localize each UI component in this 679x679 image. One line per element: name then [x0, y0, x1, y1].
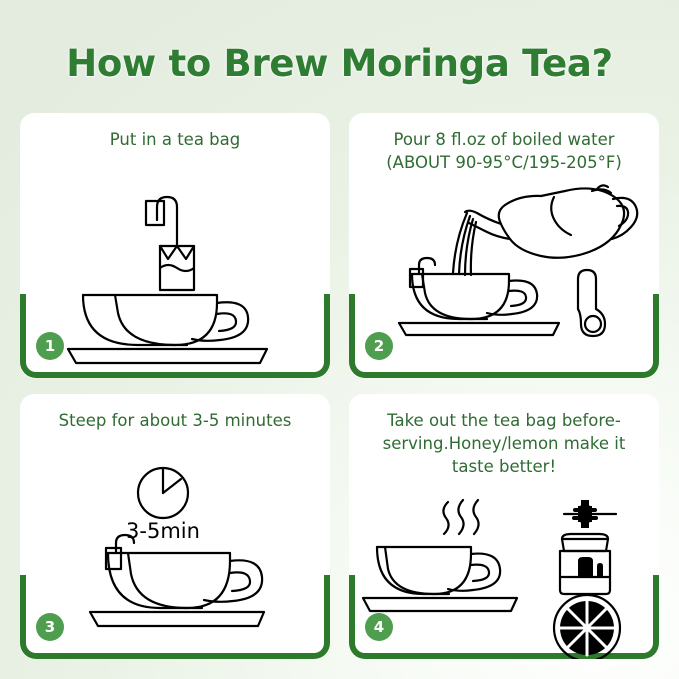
- step-badge-2: 2: [365, 332, 393, 360]
- panel-artwork-1: [20, 113, 330, 378]
- water-stream: [453, 213, 476, 275]
- lemon-slice-icon: [554, 595, 620, 659]
- tea-bag-icon: [146, 197, 194, 290]
- step-panel-2: Pour 8 fl.oz of boiled water (ABOUT 90-9…: [349, 113, 659, 378]
- steaming-teacup-icon: [363, 547, 517, 611]
- step-badge-3: 3: [36, 613, 64, 641]
- page-title: How to Brew Moringa Tea?: [0, 42, 679, 85]
- step-badge-4: 4: [365, 613, 393, 641]
- panel-artwork-2: [349, 113, 659, 378]
- step-panel-4: Take out the tea bag before- serving.Hon…: [349, 394, 659, 659]
- infographic-root: How to Brew Moringa Tea? Put in a tea ba…: [0, 0, 679, 679]
- step-panel-1: Put in a tea bag: [20, 113, 330, 378]
- steep-time-label: 3-5min: [126, 519, 200, 543]
- step-badge-1: 1: [36, 332, 64, 360]
- teapot-pouring-icon: [465, 185, 637, 257]
- tea-bag-icon: [410, 258, 435, 287]
- steam-icon: [443, 500, 478, 534]
- clock-timer-icon: [138, 468, 188, 518]
- teacup-saucer-icon: [90, 553, 264, 626]
- thermometer-icon: [578, 270, 605, 336]
- panel-artwork-4: [349, 394, 659, 659]
- panel-artwork-3: 3-5min: [20, 394, 330, 659]
- steps-grid: Put in a tea bag: [20, 113, 659, 659]
- teacup-saucer-icon: [68, 295, 267, 363]
- honey-jar-icon: [560, 500, 616, 594]
- step-panel-3: Steep for about 3-5 minutes 3-5min: [20, 394, 330, 659]
